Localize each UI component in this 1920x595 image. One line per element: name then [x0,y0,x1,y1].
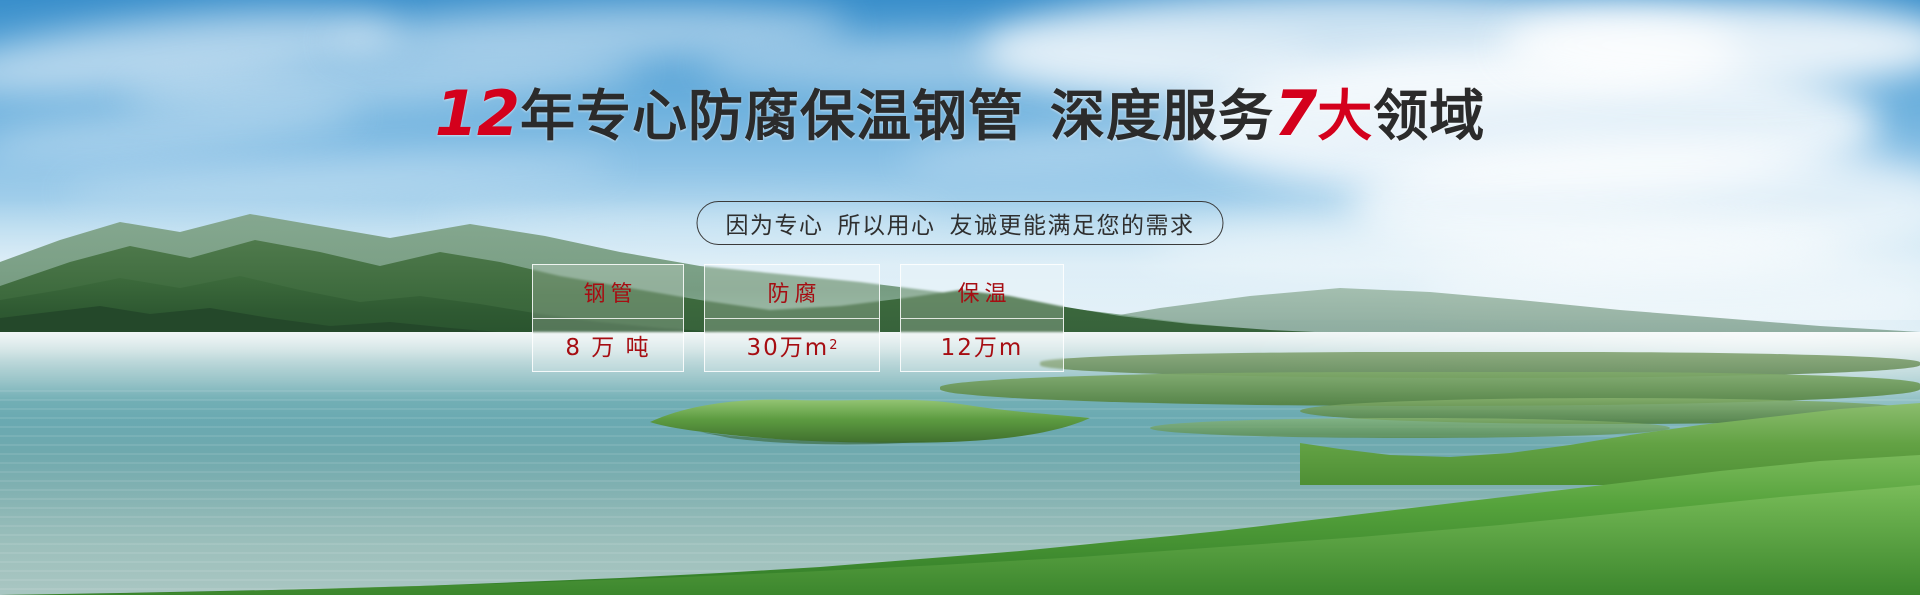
stat-value: 8 万 吨 [533,319,683,371]
headline-red-char: 大 [1317,84,1373,148]
stat-value: 12万m [901,319,1063,371]
stat-card-insulation: 保温 12万m [900,264,1064,372]
subtitle-segment-1: 因为专心 [726,206,824,240]
subtitle-segment-2: 所以用心 [838,206,936,240]
stat-label: 防腐 [705,265,879,319]
headline-text-part2: 深度服务 [1050,84,1274,148]
hero-banner: 12年专心防腐保温钢管深度服务7大领域 因为专心所以用心友诚更能满足您的需求 钢… [0,0,1920,595]
headline-number-fields: 7 [1274,77,1316,150]
stat-value-superscript: 2 [829,338,837,353]
stat-value-main: 30万m [747,328,830,362]
headline-text-part1: 年专心防腐保温钢管 [520,84,1024,148]
stat-card-group: 钢管 8 万 吨 防腐 30万m2 保温 12万m [532,264,1064,372]
subtitle-segment-3: 友诚更能满足您的需求 [950,206,1195,240]
headline-number-years: 12 [435,77,519,150]
stat-label: 保温 [901,265,1063,319]
stat-value: 30万m2 [705,319,879,371]
stat-value-main: 12万m [941,328,1024,362]
stat-label: 钢管 [533,265,683,319]
banner-content: 12年专心防腐保温钢管深度服务7大领域 因为专心所以用心友诚更能满足您的需求 钢… [0,0,1920,595]
page-title: 12年专心防腐保温钢管深度服务7大领域 [0,82,1920,148]
stat-value-main: 8 万 吨 [565,328,650,362]
stat-card-steel-pipe: 钢管 8 万 吨 [532,264,684,372]
stat-card-anticorrosion: 防腐 30万m2 [704,264,880,372]
headline-text-part3: 领域 [1373,84,1485,148]
subtitle-pill: 因为专心所以用心友诚更能满足您的需求 [697,201,1224,245]
